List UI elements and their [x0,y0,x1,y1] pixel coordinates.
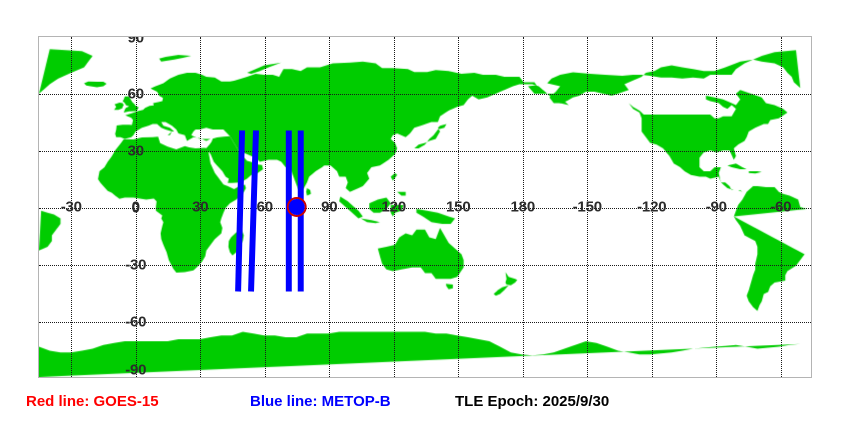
lon-tick-label: -150 [573,200,602,215]
lon-tick-label: 30 [192,200,208,215]
legend-tle-epoch: TLE Epoch: 2025/9/30 [455,394,609,409]
gridline-latitude [39,94,811,95]
lat-tick-label: 30 [128,144,144,159]
lat-tick-label: 60 [128,87,144,102]
lon-tick-label: -90 [706,200,727,215]
lat-tick-label: 0 [132,201,140,216]
lon-tick-label: -30 [61,200,82,215]
lat-tick-label: -90 [125,363,146,378]
lon-tick-label: -60 [770,200,791,215]
lon-tick-label: 60 [257,200,273,215]
lon-tick-label: 90 [321,200,337,215]
gridline-latitude [39,151,811,152]
lon-tick-label: 120 [382,200,406,215]
lat-tick-label: -60 [125,315,146,330]
lat-tick-label: -30 [125,258,146,273]
lon-tick-label: -120 [637,200,666,215]
world-map-plot: -300306090120150180-150-120-90-609060300… [38,36,812,378]
lon-tick-label: 150 [446,200,470,215]
world-map-landmass-canvas [39,37,811,377]
gridline-latitude [39,322,811,323]
legend-blue-line-metop-b: Blue line: METOP-B [250,394,391,409]
legend-red-line-goes15: Red line: GOES-15 [26,394,159,409]
legend-row: Red line: GOES-15 Blue line: METOP-B TLE… [0,394,850,420]
gridline-latitude [39,265,811,266]
gridline-latitude [39,208,811,209]
lon-tick-label: 180 [511,200,535,215]
lat-tick-label: 90 [128,36,144,46]
